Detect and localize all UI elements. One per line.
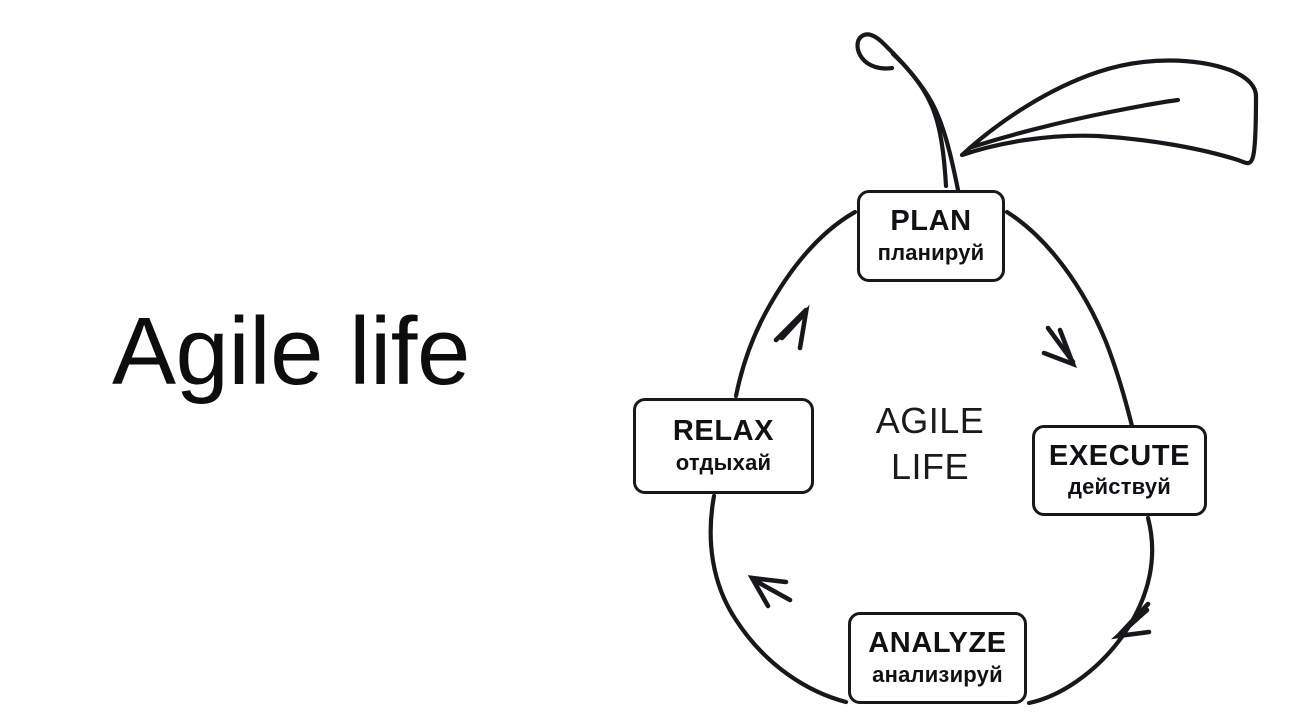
slide-canvas: Agile life: [0, 0, 1296, 727]
center-label-line-2: LIFE: [840, 444, 1020, 490]
cycle-arrow-plan-to-execute: [1044, 328, 1073, 364]
diagram-center-label: AGILE LIFE: [840, 398, 1020, 490]
cycle-arrow-analyze-to-relax: [752, 578, 790, 606]
page-title: Agile life: [112, 292, 592, 412]
stage-box-plan[interactable]: PLAN планируй: [857, 190, 1005, 282]
pear-stem-icon: [858, 34, 959, 190]
stage-box-relax[interactable]: RELAX отдыхай: [633, 398, 814, 494]
pear-leaf-icon: [962, 61, 1256, 164]
stage-title-relax: RELAX: [673, 416, 774, 446]
stage-title-plan: PLAN: [890, 206, 971, 236]
stage-subtitle-execute: действуй: [1068, 474, 1171, 500]
stage-subtitle-analyze: анализируй: [872, 662, 1003, 688]
stage-title-execute: EXECUTE: [1049, 441, 1190, 471]
stage-subtitle-relax: отдыхай: [676, 450, 772, 476]
stage-box-execute[interactable]: EXECUTE действуй: [1032, 425, 1207, 516]
stage-subtitle-plan: планируй: [878, 240, 985, 266]
cycle-arrow-execute-to-analyze: [1118, 604, 1149, 636]
stage-box-analyze[interactable]: ANALYZE анализируй: [848, 612, 1027, 704]
stage-title-analyze: ANALYZE: [868, 628, 1006, 658]
cycle-arrow-relax-to-plan: [776, 310, 806, 348]
center-label-line-1: AGILE: [840, 398, 1020, 444]
